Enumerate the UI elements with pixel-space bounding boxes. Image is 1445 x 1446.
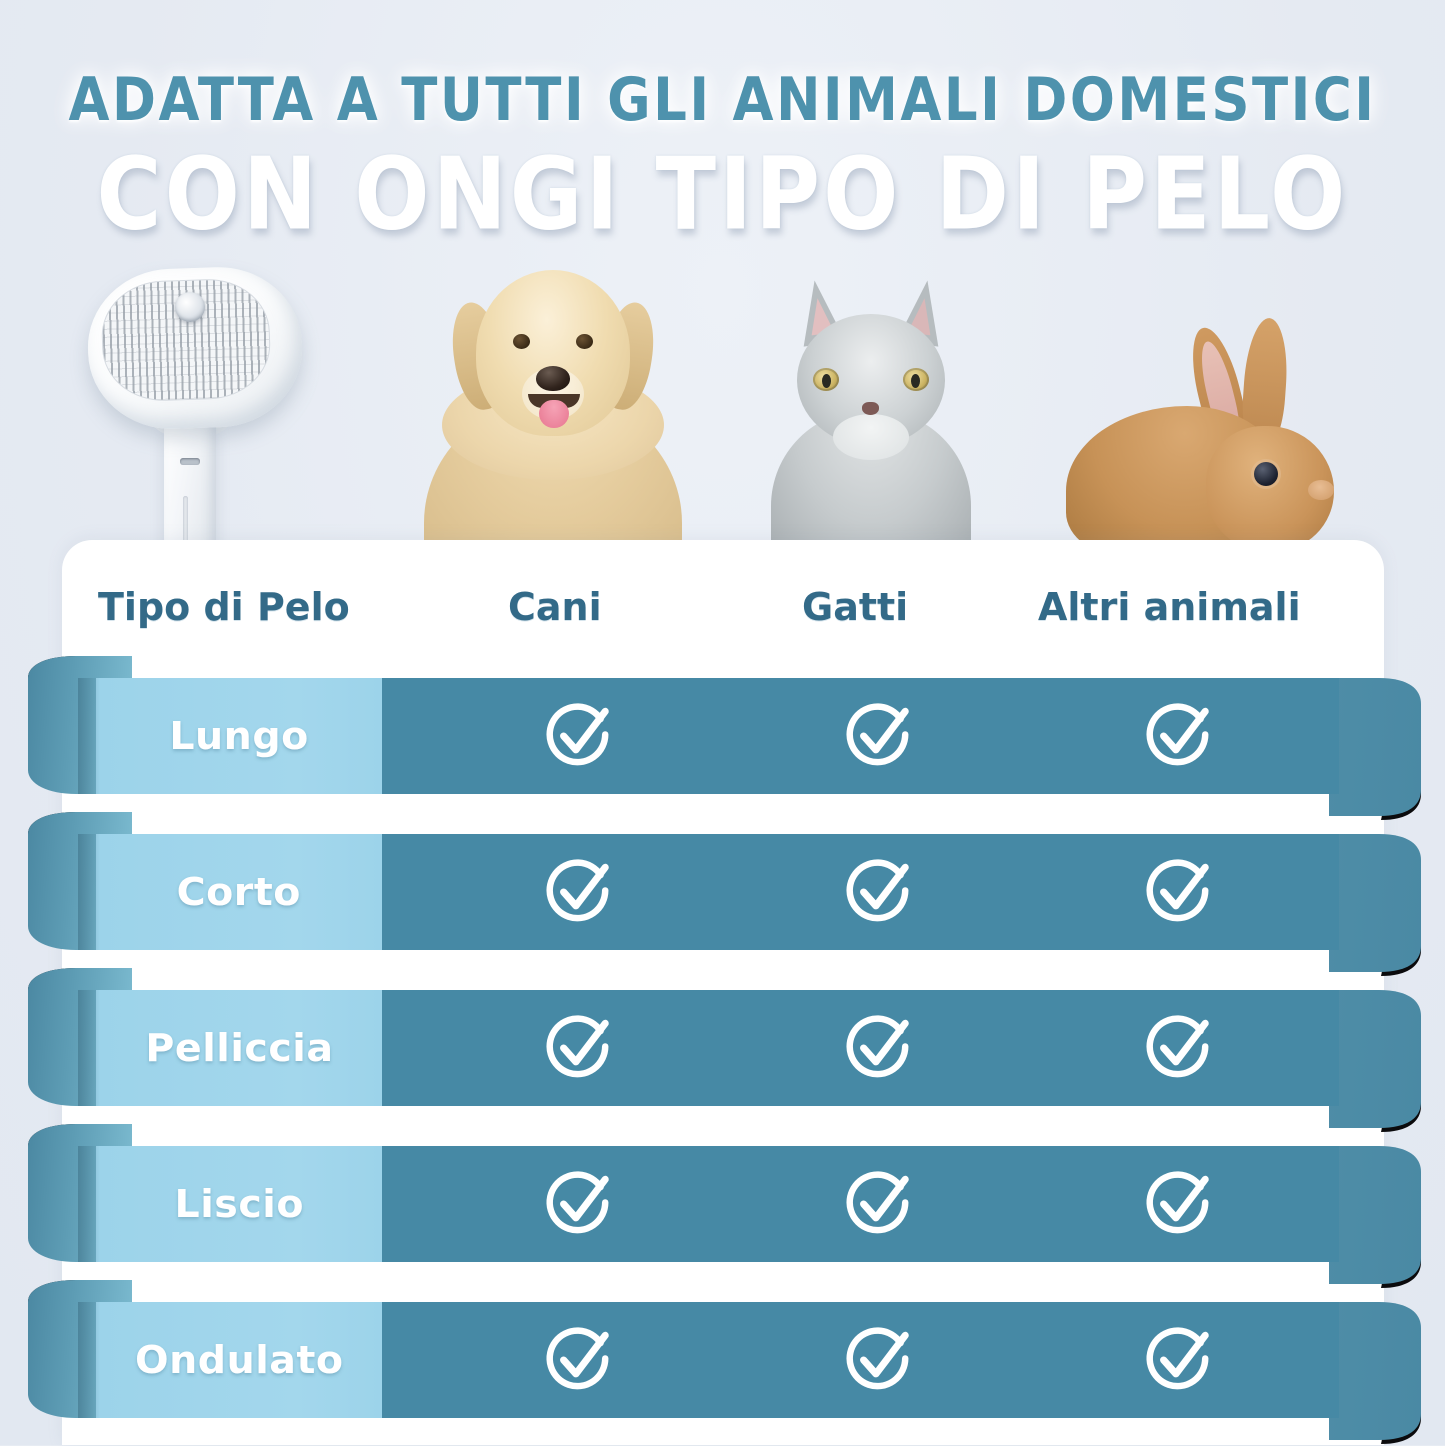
check-circle-icon [842, 1011, 916, 1085]
cell-dogs [542, 699, 616, 773]
check-circle-icon [1142, 1011, 1216, 1085]
cell-cats [842, 699, 916, 773]
table-row[interactable]: Lungo [0, 678, 1445, 794]
cell-cats [842, 1011, 916, 1085]
cell-dogs [542, 1011, 616, 1085]
ribbon-label-shade [78, 1146, 100, 1262]
row-check-cells [382, 678, 1339, 794]
brush-charging-port [180, 458, 200, 465]
cell-other-animals [1142, 855, 1216, 929]
dog-eye-right [576, 334, 593, 349]
row-label-text: Ondulato [135, 1338, 344, 1382]
row-label-cell: Pelliccia [96, 990, 382, 1106]
headline-block: ADATTA A TUTTI GLI ANIMALI DOMESTICI CON… [0, 66, 1445, 237]
ribbon-right-tail [1329, 1302, 1421, 1440]
ribbon-right-tail [1329, 1146, 1421, 1284]
ribbon-body: Lungo [96, 678, 1339, 794]
rabbit-photo-image [1066, 318, 1342, 558]
dog-nose [536, 366, 570, 391]
check-circle-icon [542, 1167, 616, 1241]
cell-other-animals [1142, 1167, 1216, 1241]
column-header-cats: Gatti [802, 585, 908, 629]
check-circle-icon [542, 1011, 616, 1085]
check-circle-icon [542, 1323, 616, 1397]
cell-dogs [542, 1167, 616, 1241]
table-row[interactable]: Corto [0, 834, 1445, 950]
row-label-text: Corto [177, 870, 301, 914]
check-circle-icon [1142, 855, 1216, 929]
check-circle-icon [542, 855, 616, 929]
row-label-text: Pelliccia [145, 1026, 333, 1070]
ribbon-label-shade [78, 834, 100, 950]
ribbon-body: Pelliccia [96, 990, 1339, 1106]
check-circle-icon [1142, 1167, 1216, 1241]
column-header-other-animals: Altri animali [1038, 585, 1301, 629]
cat-photo-image [755, 258, 987, 558]
row-label-text: Liscio [174, 1182, 303, 1226]
column-header-fur-type: Tipo di Pelo [98, 585, 350, 629]
row-label-cell: Ondulato [96, 1302, 382, 1418]
cat-chin [833, 414, 909, 460]
cell-dogs [542, 855, 616, 929]
cell-dogs [542, 1323, 616, 1397]
column-header-dogs: Cani [508, 585, 602, 629]
dog-tongue [539, 400, 569, 428]
row-label-cell: Corto [96, 834, 382, 950]
ribbon-right-tail [1329, 834, 1421, 972]
row-label-cell: Liscio [96, 1146, 382, 1262]
check-circle-icon [1142, 699, 1216, 773]
cell-other-animals [1142, 699, 1216, 773]
cell-other-animals [1142, 1323, 1216, 1397]
table-row[interactable]: Ondulato [0, 1302, 1445, 1418]
cell-cats [842, 1167, 916, 1241]
check-circle-icon [842, 855, 916, 929]
ribbon-label-shade [78, 990, 100, 1106]
row-check-cells [382, 1302, 1339, 1418]
cell-cats [842, 1323, 916, 1397]
hero-imagery [0, 232, 1445, 562]
check-circle-icon [842, 699, 916, 773]
ribbon-label-shade [78, 1302, 100, 1418]
pet-grooming-brush-image [80, 262, 320, 572]
table-row[interactable]: Pelliccia [0, 990, 1445, 1106]
row-label-text: Lungo [169, 714, 309, 758]
row-check-cells [382, 990, 1339, 1106]
rabbit-nose [1308, 480, 1334, 500]
row-label-cell: Lungo [96, 678, 382, 794]
rabbit-eye [1254, 462, 1278, 486]
ribbon-body: Corto [96, 834, 1339, 950]
ribbon-body: Ondulato [96, 1302, 1339, 1418]
dog-eye-left [513, 334, 530, 349]
check-circle-icon [842, 1167, 916, 1241]
cat-pupil-right [911, 374, 920, 388]
table-row[interactable]: Liscio [0, 1146, 1445, 1262]
cell-other-animals [1142, 1011, 1216, 1085]
table-header-row: Tipo di Pelo Cani Gatti Altri animali [62, 585, 1384, 655]
check-circle-icon [1142, 1323, 1216, 1397]
check-circle-icon [842, 1323, 916, 1397]
check-circle-icon [542, 699, 616, 773]
cat-pupil-left [822, 374, 831, 388]
ribbon-body: Liscio [96, 1146, 1339, 1262]
cell-cats [842, 855, 916, 929]
headline-line-1: ADATTA A TUTTI GLI ANIMALI DOMESTICI [0, 66, 1445, 134]
ribbon-label-shade [78, 678, 100, 794]
dog-photo-image [418, 248, 688, 558]
ribbon-right-tail [1329, 990, 1421, 1128]
row-check-cells [382, 1146, 1339, 1262]
ribbon-right-tail [1329, 678, 1421, 816]
cat-nose [862, 402, 879, 415]
row-check-cells [382, 834, 1339, 950]
